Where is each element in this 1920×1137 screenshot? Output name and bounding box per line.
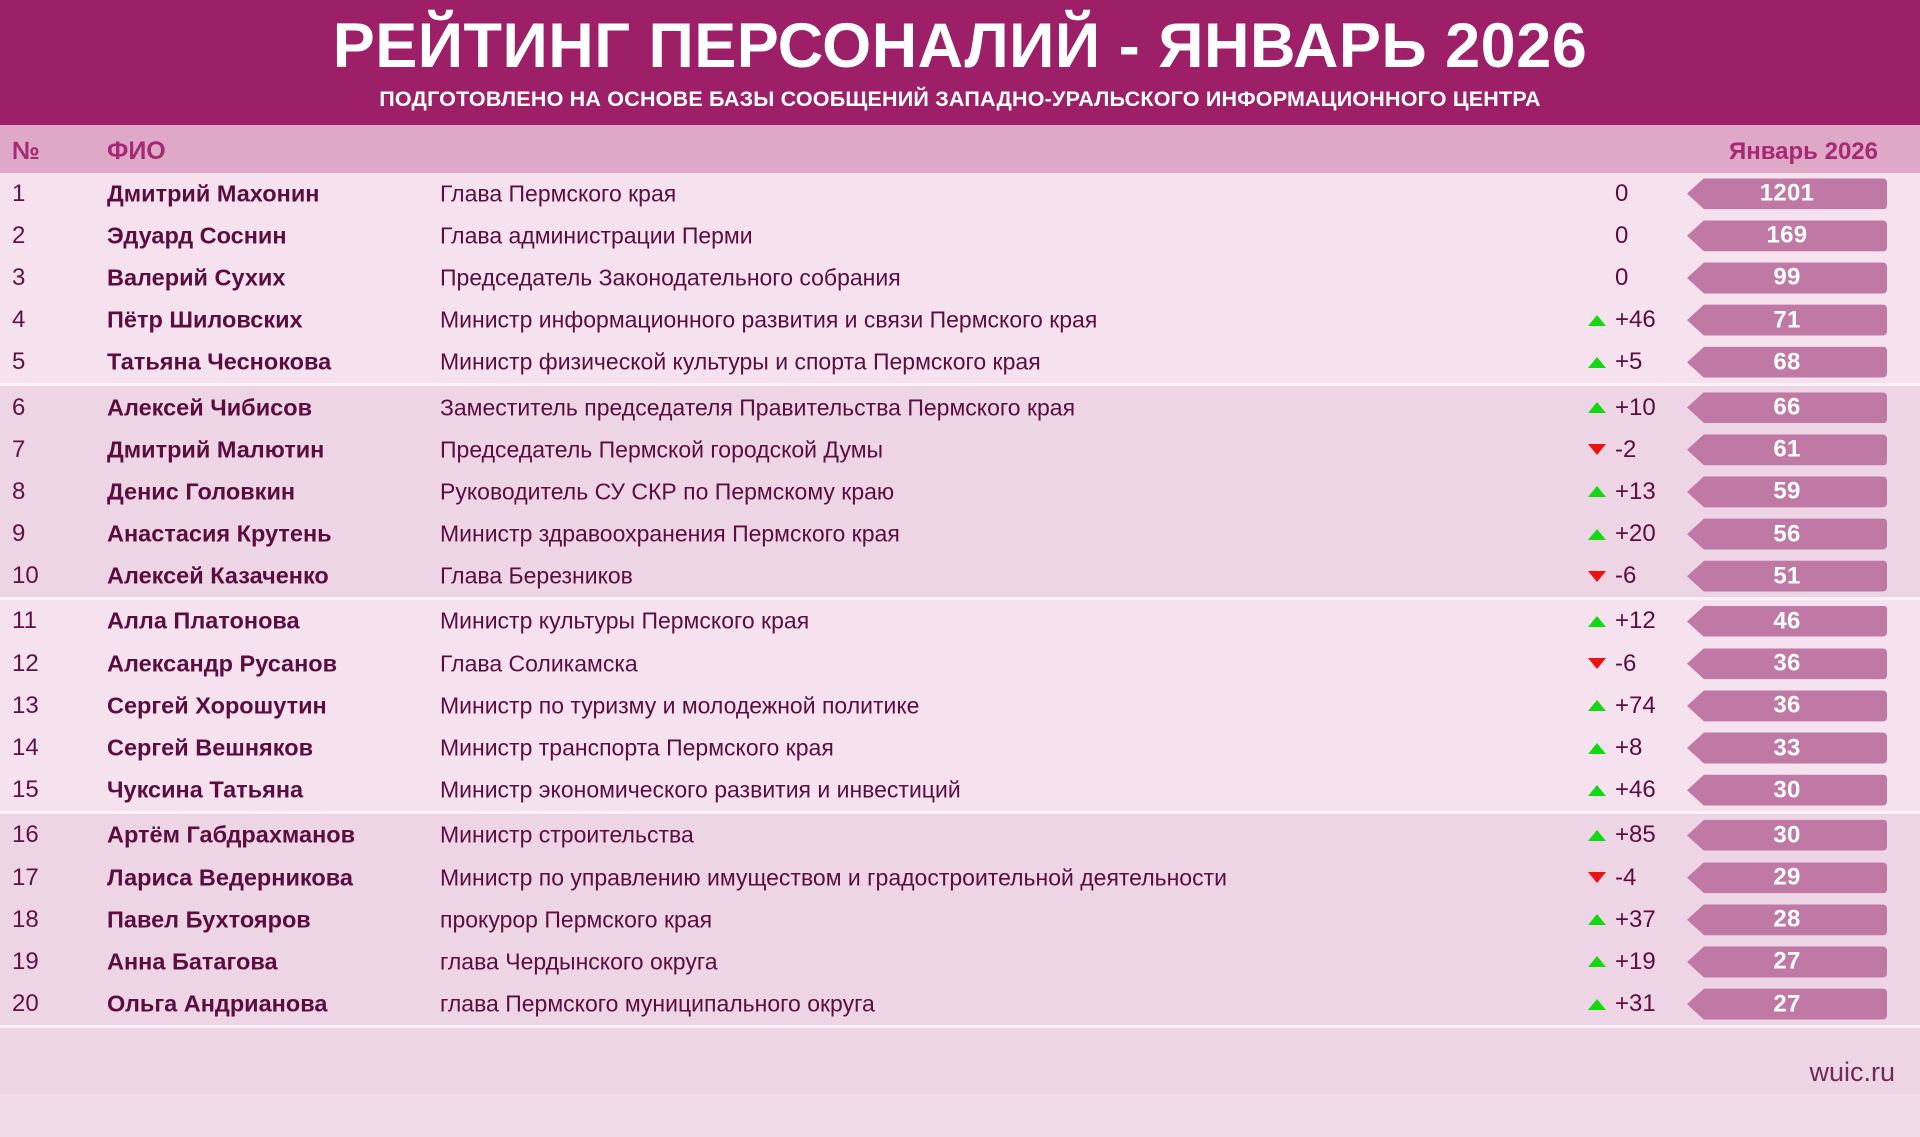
table-row[interactable]: 5Татьяна ЧесноковаМинистр физической кул…	[0, 341, 1920, 383]
rating-page: РЕЙТИНГ ПЕРСОНАЛИЙ - ЯНВАРЬ 2026 ПОДГОТО…	[0, 0, 1920, 1137]
delta-value: -2	[1615, 436, 1667, 464]
arrow-up-icon	[1588, 402, 1606, 413]
person-name-cell[interactable]: Эдуард Соснин	[107, 222, 427, 249]
delta-value: -6	[1615, 562, 1667, 590]
position-cell: Министр информационного развития и связи…	[440, 307, 1097, 334]
position-cell: Руководитель СУ СКР по Пермскому краю	[440, 478, 894, 505]
delta-cell: +13	[1507, 478, 1667, 506]
value-badge: 66	[1687, 392, 1887, 423]
delta-cell: 0	[1507, 222, 1667, 250]
footer-bar: wuic.ru	[0, 1025, 1920, 1094]
rank-cell: 17	[12, 864, 87, 892]
delta-value: +20	[1615, 520, 1667, 548]
position-cell: Глава Березников	[440, 563, 633, 590]
position-cell: Министр по управлению имуществом и градо…	[440, 864, 1227, 891]
person-name-cell[interactable]: Алексей Чибисов	[107, 394, 427, 421]
arrow-up-icon	[1588, 914, 1606, 925]
position-cell: Заместитель председателя Правительства П…	[440, 394, 1075, 421]
arrow-up-icon	[1588, 486, 1606, 497]
delta-cell: +19	[1507, 948, 1667, 976]
delta-cell: +20	[1507, 520, 1667, 548]
position-cell: Председатель Пермской городской Думы	[440, 436, 883, 463]
delta-cell: -6	[1507, 562, 1667, 590]
table-row[interactable]: 13Сергей ХорошутинМинистр по туризму и м…	[0, 685, 1920, 727]
person-name-cell[interactable]: Татьяна Чеснокова	[107, 349, 427, 376]
table-row[interactable]: 11Алла ПлатоноваМинистр культуры Пермско…	[0, 600, 1920, 642]
value-badge: 59	[1687, 476, 1887, 507]
position-cell: глава Чердынского округа	[440, 948, 718, 975]
value-badge: 29	[1687, 862, 1887, 893]
value-badge: 30	[1687, 775, 1887, 806]
position-cell: Председатель Законодательного собрания	[440, 264, 901, 291]
table-row[interactable]: 7Дмитрий МалютинПредседатель Пермской го…	[0, 429, 1920, 471]
delta-value: +13	[1615, 478, 1667, 506]
table-row[interactable]: 3Валерий СухихПредседатель Законодательн…	[0, 257, 1920, 299]
value-badge: 46	[1687, 606, 1887, 637]
column-header-value: Январь 2026	[1729, 138, 1878, 166]
delta-cell: +8	[1507, 734, 1667, 762]
value-badge: 68	[1687, 347, 1887, 378]
delta-cell: +46	[1507, 776, 1667, 804]
rank-cell: 4	[12, 306, 87, 334]
arrow-up-icon	[1588, 315, 1606, 326]
rank-cell: 18	[12, 906, 87, 934]
rank-cell: 15	[12, 776, 87, 804]
arrow-down-icon	[1588, 658, 1606, 669]
value-badge: 99	[1687, 262, 1887, 293]
delta-value: +12	[1615, 607, 1667, 635]
value-badge: 56	[1687, 519, 1887, 550]
arrow-up-icon	[1588, 743, 1606, 754]
table-row[interactable]: 20Ольга Андриановаглава Пермского муници…	[0, 983, 1920, 1025]
position-cell: прокурор Пермского края	[440, 906, 712, 933]
delta-value: +19	[1615, 948, 1667, 976]
rating-table-body: 1Дмитрий МахонинГлава Пермского края0120…	[0, 173, 1920, 1026]
person-name-cell[interactable]: Ольга Андрианова	[107, 991, 427, 1018]
column-header-name: ФИО	[107, 137, 166, 166]
person-name-cell[interactable]: Сергей Вешняков	[107, 735, 427, 762]
table-row[interactable]: 6Алексей ЧибисовЗаместитель председателя…	[0, 386, 1920, 428]
table-row[interactable]: 15Чуксина ТатьянаМинистр экономического …	[0, 769, 1920, 811]
person-name-cell[interactable]: Алла Платонова	[107, 608, 427, 635]
page-subtitle: ПОДГОТОВЛЕНО НА ОСНОВЕ БАЗЫ СООБЩЕНИЙ ЗА…	[0, 87, 1920, 112]
delta-cell: 0	[1507, 264, 1667, 292]
arrow-up-icon	[1588, 785, 1606, 796]
table-band: 1Дмитрий МахонинГлава Пермского края0120…	[0, 173, 1920, 384]
delta-value: 0	[1615, 180, 1667, 208]
position-cell: Глава Пермского края	[440, 180, 676, 207]
arrow-up-icon	[1588, 616, 1606, 627]
delta-value: +8	[1615, 734, 1667, 762]
value-badge: 28	[1687, 904, 1887, 935]
rank-cell: 1	[12, 180, 87, 208]
person-name-cell[interactable]: Артём Габдрахманов	[107, 822, 427, 849]
table-row[interactable]: 2Эдуард СоснинГлава администрации Перми0…	[0, 215, 1920, 257]
no-change-icon	[1588, 230, 1606, 241]
arrow-up-icon	[1588, 700, 1606, 711]
position-cell: Министр строительства	[440, 822, 694, 849]
table-row[interactable]: 18Павел Бухтояровпрокурор Пермского края…	[0, 899, 1920, 941]
rank-cell: 5	[12, 348, 87, 376]
delta-value: +31	[1615, 990, 1667, 1018]
delta-cell: -2	[1507, 436, 1667, 464]
arrow-up-icon	[1588, 999, 1606, 1010]
rank-cell: 20	[12, 990, 87, 1018]
value-badge: 27	[1687, 946, 1887, 977]
delta-cell: +5	[1507, 348, 1667, 376]
person-name-cell[interactable]: Анна Батагова	[107, 948, 427, 975]
delta-value: 0	[1615, 264, 1667, 292]
table-band: 16Артём ГабдрахмановМинистр строительств…	[0, 811, 1920, 1025]
rank-cell: 3	[12, 264, 87, 292]
delta-value: +46	[1615, 306, 1667, 334]
person-name-cell[interactable]: Пётр Шиловских	[107, 307, 427, 334]
page-title: РЕЙТИНГ ПЕРСОНАЛИЙ - ЯНВАРЬ 2026	[0, 14, 1920, 80]
rank-cell: 14	[12, 734, 87, 762]
delta-cell: +10	[1507, 394, 1667, 422]
value-badge: 61	[1687, 434, 1887, 465]
table-band: 6Алексей ЧибисовЗаместитель председателя…	[0, 383, 1920, 597]
no-change-icon	[1588, 272, 1606, 283]
table-row[interactable]: 12Александр РусановГлава Соликамска-636	[0, 643, 1920, 685]
table-row[interactable]: 16Артём ГабдрахмановМинистр строительств…	[0, 814, 1920, 856]
rank-cell: 13	[12, 692, 87, 720]
delta-value: +85	[1615, 821, 1667, 849]
person-name-cell[interactable]: Анастасия Крутень	[107, 521, 427, 548]
person-name-cell[interactable]: Дмитрий Малютин	[107, 436, 427, 463]
person-name-cell[interactable]: Чуксина Татьяна	[107, 777, 427, 804]
delta-cell: +12	[1507, 607, 1667, 635]
rank-cell: 6	[12, 394, 87, 422]
rank-cell: 16	[12, 821, 87, 849]
rank-cell: 7	[12, 436, 87, 464]
value-badge: 30	[1687, 820, 1887, 851]
rank-cell: 9	[12, 520, 87, 548]
position-cell: глава Пермского муниципального округа	[440, 991, 875, 1018]
person-name-cell[interactable]: Алексей Казаченко	[107, 563, 427, 590]
delta-cell: +46	[1507, 306, 1667, 334]
rank-cell: 2	[12, 222, 87, 250]
position-cell: Глава администрации Перми	[440, 222, 753, 249]
table-row[interactable]: 9Анастасия КрутеньМинистр здравоохранени…	[0, 513, 1920, 555]
column-header-rank: №	[12, 137, 40, 166]
delta-value: -6	[1615, 650, 1667, 678]
arrow-up-icon	[1588, 830, 1606, 841]
position-cell: Министр физической культуры и спорта Пер…	[440, 349, 1041, 376]
table-column-header: № ФИО Январь 2026	[0, 125, 1920, 173]
delta-value: +37	[1615, 906, 1667, 934]
table-row[interactable]: 8Денис ГоловкинРуководитель СУ СКР по Пе…	[0, 471, 1920, 513]
person-name-cell[interactable]: Сергей Хорошутин	[107, 692, 427, 719]
rank-cell: 11	[12, 607, 87, 635]
position-cell: Министр здравоохранения Пермского края	[440, 521, 900, 548]
value-badge: 169	[1687, 220, 1887, 251]
table-row[interactable]: 14Сергей ВешняковМинистр транспорта Перм…	[0, 727, 1920, 769]
delta-cell: +31	[1507, 990, 1667, 1018]
rank-cell: 8	[12, 478, 87, 506]
delta-value: +5	[1615, 348, 1667, 376]
no-change-icon	[1588, 188, 1606, 199]
arrow-down-icon	[1588, 872, 1606, 883]
arrow-up-icon	[1588, 529, 1606, 540]
position-cell: Министр по туризму и молодежной политике	[440, 692, 919, 719]
delta-cell: +85	[1507, 821, 1667, 849]
value-badge: 36	[1687, 648, 1887, 679]
table-row[interactable]: 1Дмитрий МахонинГлава Пермского края0120…	[0, 173, 1920, 215]
table-row[interactable]: 17Лариса ВедерниковаМинистр по управлени…	[0, 857, 1920, 899]
delta-value: -4	[1615, 864, 1667, 892]
delta-cell: -4	[1507, 864, 1667, 892]
table-row[interactable]: 4Пётр ШиловскихМинистр информационного р…	[0, 299, 1920, 341]
value-badge: 27	[1687, 989, 1887, 1020]
person-name-cell[interactable]: Валерий Сухих	[107, 264, 427, 291]
arrow-down-icon	[1588, 571, 1606, 582]
arrow-down-icon	[1588, 444, 1606, 455]
person-name-cell[interactable]: Павел Бухтояров	[107, 906, 427, 933]
title-banner: РЕЙТИНГ ПЕРСОНАЛИЙ - ЯНВАРЬ 2026 ПОДГОТО…	[0, 0, 1920, 125]
arrow-up-icon	[1588, 956, 1606, 967]
delta-value: +46	[1615, 776, 1667, 804]
delta-cell: +37	[1507, 906, 1667, 934]
value-badge: 33	[1687, 733, 1887, 764]
delta-value: +74	[1615, 692, 1667, 720]
person-name-cell[interactable]: Денис Головкин	[107, 478, 427, 505]
value-badge: 1201	[1687, 178, 1887, 209]
rank-cell: 19	[12, 948, 87, 976]
table-row[interactable]: 10Алексей КазаченкоГлава Березников-651	[0, 555, 1920, 597]
rank-cell: 10	[12, 562, 87, 590]
person-name-cell[interactable]: Лариса Ведерникова	[107, 864, 427, 891]
position-cell: Министр культуры Пермского края	[440, 608, 809, 635]
table-band: 11Алла ПлатоноваМинистр культуры Пермско…	[0, 597, 1920, 811]
value-badge: 71	[1687, 305, 1887, 336]
value-badge: 51	[1687, 561, 1887, 592]
arrow-up-icon	[1588, 357, 1606, 368]
person-name-cell[interactable]: Александр Русанов	[107, 650, 427, 677]
delta-cell: -6	[1507, 650, 1667, 678]
value-badge: 36	[1687, 690, 1887, 721]
delta-cell: +74	[1507, 692, 1667, 720]
delta-value: +10	[1615, 394, 1667, 422]
rank-cell: 12	[12, 650, 87, 678]
delta-cell: 0	[1507, 180, 1667, 208]
person-name-cell[interactable]: Дмитрий Махонин	[107, 180, 427, 207]
position-cell: Глава Соликамска	[440, 650, 638, 677]
delta-value: 0	[1615, 222, 1667, 250]
watermark: wuic.ru	[1809, 1057, 1895, 1088]
table-row[interactable]: 19Анна Батаговаглава Чердынского округа+…	[0, 941, 1920, 983]
position-cell: Министр экономического развития и инвест…	[440, 777, 961, 804]
position-cell: Министр транспорта Пермского края	[440, 735, 834, 762]
